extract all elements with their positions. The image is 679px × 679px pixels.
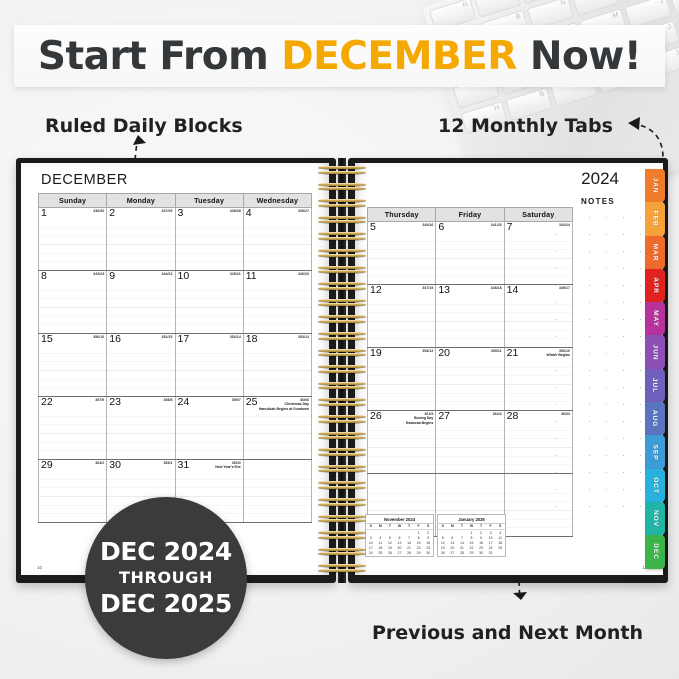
day-of-week-wednesday: Wednesday: [243, 194, 311, 208]
month-tab-apr[interactable]: APR: [645, 269, 665, 302]
day-of-year-count: 341/25: [491, 223, 502, 227]
day-of-year-count: 350/16: [93, 335, 104, 339]
spiral-coil: [318, 382, 366, 390]
ruled-lines: [244, 282, 311, 333]
ruled-lines: [436, 296, 503, 347]
badge-line-3: DEC 2025: [100, 589, 232, 619]
calendar-grid-right: ThursdayFridaySaturday 5340/266341/25734…: [367, 207, 573, 537]
day-meta: 359/7: [232, 398, 241, 402]
day-meta: 345/21: [230, 272, 241, 276]
day-of-year-count: 343/23: [93, 272, 104, 276]
day-meta: 336/30: [93, 209, 104, 213]
day-of-year-count: 336/30: [93, 209, 104, 213]
day-cell[interactable]: 8343/23: [39, 271, 107, 334]
day-number: 13: [438, 285, 450, 296]
day-cell[interactable]: 6341/25: [436, 222, 504, 285]
month-tab-mar[interactable]: MAR: [645, 236, 665, 269]
day-meta: 341/25: [491, 223, 502, 227]
day-meta: 364/2: [95, 461, 104, 465]
day-meta: 348/18: [491, 286, 502, 290]
mini-day-cell[interactable]: 26: [438, 551, 448, 556]
day-meta: 366/0New Year's Eve: [215, 461, 240, 470]
month-tab-jun[interactable]: JUN: [645, 335, 665, 368]
day-cell[interactable]: 26361/5Boxing DayKwanzaa Begins: [368, 411, 436, 474]
day-number: 8: [41, 271, 47, 282]
calendar-body-left: 1336/302337/293338/284339/278343/239344/…: [39, 208, 312, 523]
day-of-year-count: 361/5: [424, 412, 433, 416]
month-tab-label: SEP: [652, 444, 659, 460]
month-tab-jan[interactable]: JAN: [645, 169, 665, 202]
calendar-week-row: 5340/266341/257342/24: [368, 222, 573, 285]
day-number: 1: [41, 208, 47, 219]
day-number: 16: [109, 334, 121, 345]
day-of-year-count: 354/12: [422, 349, 433, 353]
day-of-year-count: 340/26: [422, 223, 433, 227]
ruled-lines: [436, 359, 503, 410]
day-of-year-count: 358/8: [164, 398, 173, 402]
date-range-badge: DEC 2024 THROUGH DEC 2025: [85, 497, 247, 659]
day-of-year-count: 357/9: [95, 398, 104, 402]
day-cell[interactable]: 2337/29: [107, 208, 175, 271]
day-of-week-header-row: ThursdayFridaySaturday: [368, 208, 573, 222]
day-cell[interactable]: 29364/2: [39, 460, 107, 523]
mini-week-row: 262728293031: [438, 551, 505, 556]
day-of-year-count: 338/28: [230, 209, 241, 213]
day-meta: 352/14: [230, 335, 241, 339]
day-meta: 346/20: [298, 272, 309, 276]
mini-day-cell[interactable]: 30: [423, 551, 433, 556]
headline-pre: Start From: [38, 34, 281, 79]
month-tab-sep[interactable]: SEP: [645, 435, 665, 468]
ruled-lines: [39, 282, 106, 333]
spiral-coil: [318, 548, 366, 556]
day-cell[interactable]: 18353/13: [243, 334, 311, 397]
ruled-lines: [436, 233, 503, 284]
day-cell[interactable]: 23358/8: [107, 397, 175, 460]
mini-calendar-next-month: January 2025 SMTWTFS12345678910111213141…: [437, 514, 506, 557]
day-number: 18: [246, 334, 258, 345]
month-tab-label: MAY: [652, 310, 659, 327]
day-number: 29: [41, 460, 53, 471]
mini-day-cell[interactable]: 26: [385, 551, 395, 556]
badge-line-2: THROUGH: [119, 568, 213, 587]
mini-day-cell[interactable]: 29: [467, 551, 477, 556]
holiday-label: Hanukkah Begins at Sundown: [259, 407, 309, 411]
mini-day-cell[interactable]: 31: [486, 551, 496, 556]
day-meta: 354/12: [422, 349, 433, 353]
day-meta: 344/22: [162, 272, 173, 276]
annotation-ruled-daily-blocks: Ruled Daily Blocks: [45, 115, 243, 137]
day-number: 15: [41, 334, 53, 345]
ruled-lines: [244, 471, 311, 522]
day-of-week-tuesday: Tuesday: [175, 194, 243, 208]
day-cell[interactable]: 9344/22: [107, 271, 175, 334]
day-number: 2: [109, 208, 115, 219]
day-meta: 362/4: [493, 412, 502, 416]
monthly-tab-strip: JANFEBMARAPRMAYJUNJULAUGSEPOCTNOVDEC: [645, 169, 665, 579]
day-of-year-count: 364/2: [95, 461, 104, 465]
day-number: 30: [109, 460, 121, 471]
day-cell[interactable]: 1336/30: [39, 208, 107, 271]
notes-heading: NOTES: [559, 197, 637, 206]
day-number: 7: [507, 222, 513, 233]
month-tab-label: JAN: [652, 178, 659, 194]
calendar-week-row: 22357/923358/824359/725360/6Christmas Da…: [39, 397, 312, 460]
day-number: 20: [438, 348, 450, 359]
calendar-week-row: 19354/1220355/1121356/10Winter Begins: [368, 348, 573, 411]
day-cell[interactable]: 13348/18: [436, 285, 504, 348]
holiday-label: New Year's Eve: [215, 465, 240, 469]
day-cell[interactable]: 20355/11: [436, 348, 504, 411]
day-cell[interactable]: 17352/14: [175, 334, 243, 397]
day-number: 21: [507, 348, 519, 359]
day-number: 11: [246, 271, 257, 282]
ruled-lines: [107, 219, 174, 270]
mini-day-cell[interactable]: 25: [376, 551, 386, 556]
day-cell[interactable]: 10345/21: [175, 271, 243, 334]
day-cell[interactable]: 24359/7: [175, 397, 243, 460]
day-of-week-monday: Monday: [107, 194, 175, 208]
mini-day-cell[interactable]: 27: [448, 551, 458, 556]
calendar-week-row: 8343/239344/2210345/2111346/20: [39, 271, 312, 334]
ruled-lines: [244, 408, 311, 459]
day-of-year-count: 355/11: [491, 349, 502, 353]
ruled-lines: [368, 422, 435, 473]
ruled-lines: [244, 345, 311, 396]
day-of-year-count: 353/13: [298, 335, 309, 339]
day-meta: 365/1: [164, 461, 173, 465]
day-of-year-count: 347/19: [422, 286, 433, 290]
day-cell[interactable]: 16351/15: [107, 334, 175, 397]
month-tab-label: JUN: [652, 344, 659, 360]
day-number: 25: [246, 397, 258, 408]
mini-day-cell[interactable]: 30: [476, 551, 486, 556]
ruled-lines: [244, 219, 311, 270]
calendar-week-row: 1336/302337/293338/284339/27: [39, 208, 312, 271]
day-of-year-count: 366/0: [232, 461, 241, 465]
headline-banner: Start From DECEMBER Now!: [14, 25, 665, 87]
mini-calendar-previous-month: November 2024 SMTWTFS1234567891011121314…: [365, 514, 434, 557]
spiral-coil: [318, 216, 366, 224]
day-meta: 358/8: [164, 398, 173, 402]
spiral-coil: [318, 448, 366, 456]
notes-dot-grid[interactable]: [547, 209, 649, 509]
page-number-left: 10: [37, 565, 42, 570]
day-meta: 337/29: [162, 209, 173, 213]
day-cell[interactable]: [243, 460, 311, 523]
day-of-week-sunday: Sunday: [39, 194, 107, 208]
spiral-coil: [318, 315, 366, 323]
day-cell[interactable]: 4339/27: [243, 208, 311, 271]
day-number: 31: [178, 460, 190, 471]
spiral-coil: [318, 266, 366, 274]
spiral-coil: [318, 249, 366, 257]
month-tab-dec[interactable]: DEC: [645, 535, 665, 568]
month-tab-oct[interactable]: OCT: [645, 469, 665, 502]
spiral-coil: [318, 481, 366, 489]
ruled-lines: [107, 345, 174, 396]
spiral-coil: [318, 332, 366, 340]
day-meta: 355/11: [491, 349, 502, 353]
month-tab-label: OCT: [652, 477, 659, 494]
spiral-coil: [318, 398, 366, 406]
calendar-week-row: 12347/1913348/1814349/17: [368, 285, 573, 348]
month-tab-label: FEB: [651, 211, 658, 227]
month-tab-label: AUG: [651, 410, 658, 427]
day-number: 24: [178, 397, 190, 408]
day-cell[interactable]: 11346/20: [243, 271, 311, 334]
spiral-coil: [318, 199, 366, 207]
day-cell[interactable]: 22357/9: [39, 397, 107, 460]
day-of-year-count: 339/27: [298, 209, 309, 213]
day-of-week-thursday: Thursday: [368, 208, 436, 222]
spiral-coil: [318, 498, 366, 506]
day-meta: 353/13: [298, 335, 309, 339]
mini-day-cell[interactable]: [495, 551, 505, 556]
holiday-label: Kwanzaa Begins: [406, 421, 434, 425]
day-of-year-count: 362/4: [493, 412, 502, 416]
headline-post: Now!: [517, 34, 641, 79]
spiral-coil: [318, 365, 366, 373]
day-number: 14: [507, 285, 519, 296]
page-title: Start From DECEMBER Now!: [38, 34, 641, 79]
badge-line-1: DEC 2024: [100, 537, 232, 567]
month-tab-nov[interactable]: NOV: [645, 502, 665, 535]
month-tab-label: JUL: [651, 378, 658, 393]
ruled-lines: [39, 471, 106, 522]
spiral-coil: [318, 515, 366, 523]
calendar-grid-left: SundayMondayTuesdayWednesday 1336/302337…: [38, 193, 312, 523]
month-tab-label: MAR: [652, 243, 659, 261]
day-of-year-count: 351/15: [162, 335, 173, 339]
day-of-year-count: 344/22: [162, 272, 173, 276]
ruled-lines: [368, 233, 435, 284]
mini-day-cell[interactable]: 28: [404, 551, 414, 556]
month-tab-may[interactable]: MAY: [645, 302, 665, 335]
ruled-lines: [176, 282, 243, 333]
day-meta: 357/9: [95, 398, 104, 402]
day-of-year-count: 359/7: [232, 398, 241, 402]
spiral-coil: [318, 282, 366, 290]
day-meta: 339/27: [298, 209, 309, 213]
year-title: 2024: [581, 169, 619, 189]
spiral-coil: [318, 564, 366, 572]
ruled-lines: [39, 408, 106, 459]
day-meta: 360/6Christmas DayHanukkah Begins at Sun…: [259, 398, 309, 411]
calendar-page-right: 2024 NOTES ThursdayFridaySaturday 5340/2…: [355, 163, 663, 575]
day-meta: 351/15: [162, 335, 173, 339]
day-cell[interactable]: 3338/28: [175, 208, 243, 271]
ruled-lines: [107, 282, 174, 333]
day-number: 10: [178, 271, 190, 282]
annotation-previous-next-month: Previous and Next Month: [372, 622, 643, 644]
ruled-lines: [176, 408, 243, 459]
ruled-lines: [436, 422, 503, 473]
day-of-year-count: 337/29: [162, 209, 173, 213]
day-meta: 350/16: [93, 335, 104, 339]
day-number: 4: [246, 208, 252, 219]
day-meta: 343/23: [93, 272, 104, 276]
ruled-lines: [368, 296, 435, 347]
day-number: 23: [109, 397, 121, 408]
month-tab-label: NOV: [652, 510, 659, 527]
day-meta: 338/28: [230, 209, 241, 213]
spiral-coil: [318, 531, 366, 539]
ruled-lines: [39, 345, 106, 396]
spiral-coil: [318, 166, 366, 174]
day-of-year-count: 360/6: [300, 398, 309, 402]
month-tab-aug[interactable]: AUG: [645, 402, 665, 435]
ruled-lines: [176, 219, 243, 270]
mini-calendar-caption: November 2024: [366, 515, 433, 524]
headline-highlight: DECEMBER: [281, 34, 516, 79]
month-tab-jul[interactable]: JUL: [645, 369, 665, 402]
day-of-year-count: 365/1: [164, 461, 173, 465]
day-of-year-count: 345/21: [230, 272, 241, 276]
day-cell[interactable]: 15350/16: [39, 334, 107, 397]
day-of-year-count: 346/20: [298, 272, 309, 276]
day-of-year-count: 348/18: [491, 286, 502, 290]
ruled-lines: [107, 408, 174, 459]
day-meta: 347/19: [422, 286, 433, 290]
day-cell[interactable]: 12347/19: [368, 285, 436, 348]
spiral-coil: [318, 349, 366, 357]
day-number: 6: [438, 222, 444, 233]
month-tab-label: DEC: [652, 544, 659, 561]
day-meta: 340/26: [422, 223, 433, 227]
day-number: 3: [178, 208, 184, 219]
spiral-coil: [318, 299, 366, 307]
day-number: 28: [507, 411, 519, 422]
month-title: DECEMBER: [41, 172, 128, 188]
mini-calendar-grid: SMTWTFS123456789101112131415161718192021…: [438, 524, 505, 556]
day-number: 9: [109, 271, 115, 282]
ruled-lines: [39, 219, 106, 270]
day-of-week-friday: Friday: [436, 208, 504, 222]
mini-day-cell[interactable]: 29: [414, 551, 424, 556]
spiral-coil: [318, 183, 366, 191]
annotation-12-monthly-tabs: 12 Monthly Tabs: [438, 115, 613, 137]
ruled-lines: [176, 345, 243, 396]
spiral-coil: [318, 465, 366, 473]
spiral-wire-binding: [312, 158, 372, 583]
day-number: 22: [41, 397, 53, 408]
calendar-body-right: 5340/266341/257342/2412347/1913348/18143…: [368, 222, 573, 537]
mini-day-cell[interactable]: 28: [457, 551, 467, 556]
mini-day-cell[interactable]: 27: [395, 551, 405, 556]
day-cell[interactable]: 19354/12: [368, 348, 436, 411]
month-tab-feb[interactable]: FEB: [645, 202, 665, 235]
day-of-year-count: 352/14: [230, 335, 241, 339]
spiral-coil: [318, 432, 366, 440]
day-meta: 361/5Boxing DayKwanzaa Begins: [406, 412, 434, 425]
day-cell[interactable]: 5340/26: [368, 222, 436, 285]
mini-week-row: 24252627282930: [366, 551, 433, 556]
day-number: 17: [178, 334, 190, 345]
ruled-lines: [368, 359, 435, 410]
mini-calendar-grid: SMTWTFS123456789101112131415161718192021…: [366, 524, 433, 556]
day-cell[interactable]: 25360/6Christmas DayHanukkah Begins at S…: [243, 397, 311, 460]
day-number: 27: [438, 411, 450, 422]
calendar-week-row: 15350/1616351/1517352/1418353/13: [39, 334, 312, 397]
month-tab-label: APR: [652, 277, 659, 294]
spiral-coil: [318, 232, 366, 240]
day-cell[interactable]: 27362/4: [436, 411, 504, 474]
day-of-week-header-row: SundayMondayTuesdayWednesday: [39, 194, 312, 208]
mini-calendar-caption: January 2025: [438, 515, 505, 524]
spiral-coil: [318, 415, 366, 423]
calendar-week-row: 26361/5Boxing DayKwanzaa Begins27362/428…: [368, 411, 573, 474]
